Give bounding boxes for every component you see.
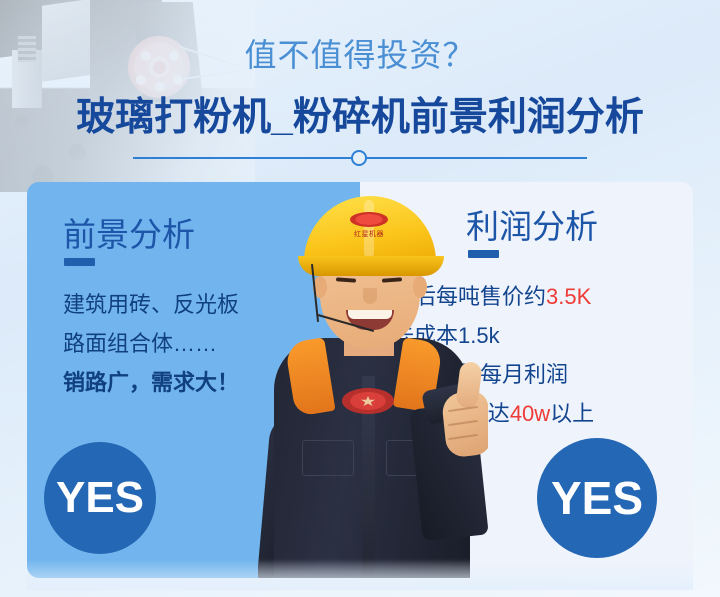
banner-header: 值不值得投资？ 玻璃打粉机_粉碎机前景利润分析	[0, 0, 720, 178]
hard-hat-logo-mark-icon	[350, 212, 388, 227]
worker-photo: 红星机器	[258, 190, 488, 578]
panel-right-line-4-highlight: 40w	[510, 401, 550, 426]
worker-pocket-left	[302, 440, 354, 476]
worker-chest-logo-icon	[342, 388, 394, 414]
banner-subtitle: 值不值得投资？	[0, 30, 720, 76]
panel-right-line-1-highlight: 3.5K	[546, 284, 591, 309]
panel-left-heading: 前景分析	[63, 208, 195, 256]
worker-hard-hat-logo: 红星机器	[340, 212, 398, 242]
yes-badge-prospect: YES	[44, 442, 156, 554]
promo-banner: 值不值得投资？ 玻璃打粉机_粉碎机前景利润分析 前景分析 建筑用砖、反光板 路面…	[0, 0, 720, 597]
worker-teeth	[348, 310, 392, 319]
worker-ear-right	[413, 276, 427, 298]
circle-divider-icon	[351, 150, 367, 166]
banner-title: 玻璃打粉机_粉碎机前景利润分析	[0, 86, 720, 142]
yes-badge-profit: YES	[537, 438, 657, 558]
hard-hat-logo-text: 红星机器	[340, 229, 398, 239]
worker-bottom-fade	[258, 532, 488, 578]
panel-left-heading-underline	[64, 258, 95, 266]
worker-nose	[363, 288, 377, 304]
worker-hard-hat-brim	[298, 256, 444, 276]
panel-right-line-4-suffix: 以上	[550, 401, 594, 426]
